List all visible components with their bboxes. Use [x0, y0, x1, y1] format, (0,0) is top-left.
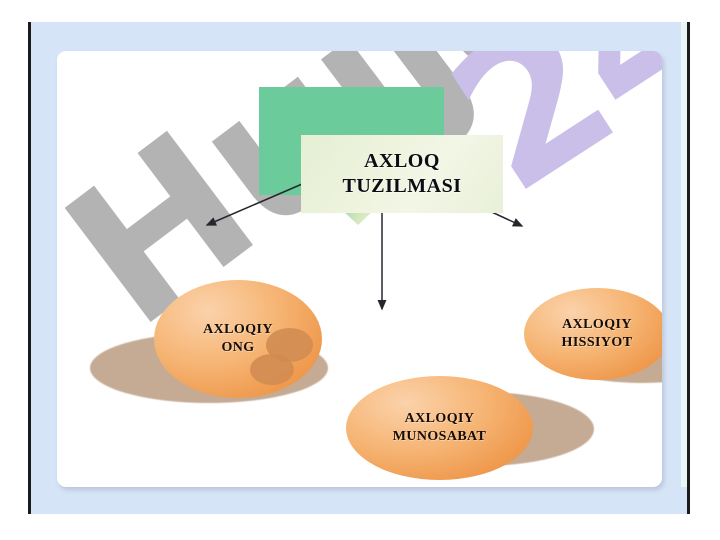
node-label-line-2: ONG: [221, 339, 254, 357]
frame-edge-right: [687, 22, 690, 514]
diagram-content: AXLOQ TUZILMASI AXLOQIY ONG AXLOQIY MUNO…: [57, 51, 662, 487]
node-axloqiy-hissiyot[interactable]: AXLOQIY HISSIYOT: [524, 288, 662, 380]
node-decoration-blob: [250, 354, 294, 385]
node-label-line-1: AXLOQIY: [203, 321, 273, 339]
frame-bottom-sliver: [31, 487, 687, 514]
frame-edge-left: [28, 22, 31, 514]
slide-inner-page: Hujjat 24 AXLOQ: [57, 51, 662, 487]
node-label-line-2: MUNOSABAT: [393, 428, 487, 446]
node-label-line-2: HISSIYOT: [562, 334, 633, 352]
page-title-line-1: AXLOQ: [364, 149, 440, 174]
node-axloqiy-munosabat[interactable]: AXLOQIY MUNOSABAT: [346, 376, 533, 480]
slide-canvas: Hujjat 24 AXLOQ: [0, 0, 720, 540]
node-label-line-1: AXLOQIY: [562, 316, 632, 334]
node-label-line-1: AXLOQIY: [405, 410, 475, 428]
diagram-title-box: AXLOQ TUZILMASI: [301, 135, 503, 213]
page-title-line-2: TUZILMASI: [343, 174, 462, 199]
